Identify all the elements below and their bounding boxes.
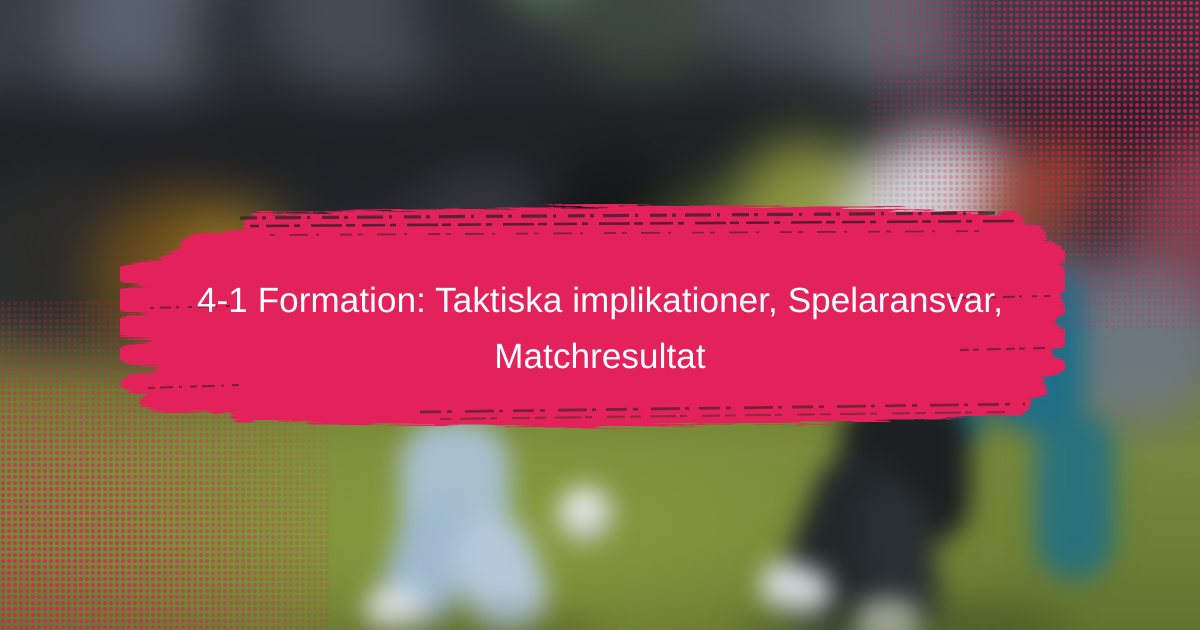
header-card: 4-1 Formation: Taktiska implikationer, S…: [0, 0, 1200, 630]
page-title: 4-1 Formation: Taktiska implikationer, S…: [150, 273, 1050, 385]
page-title-text: 4-1 Formation: Taktiska implikationer, S…: [197, 281, 1003, 376]
